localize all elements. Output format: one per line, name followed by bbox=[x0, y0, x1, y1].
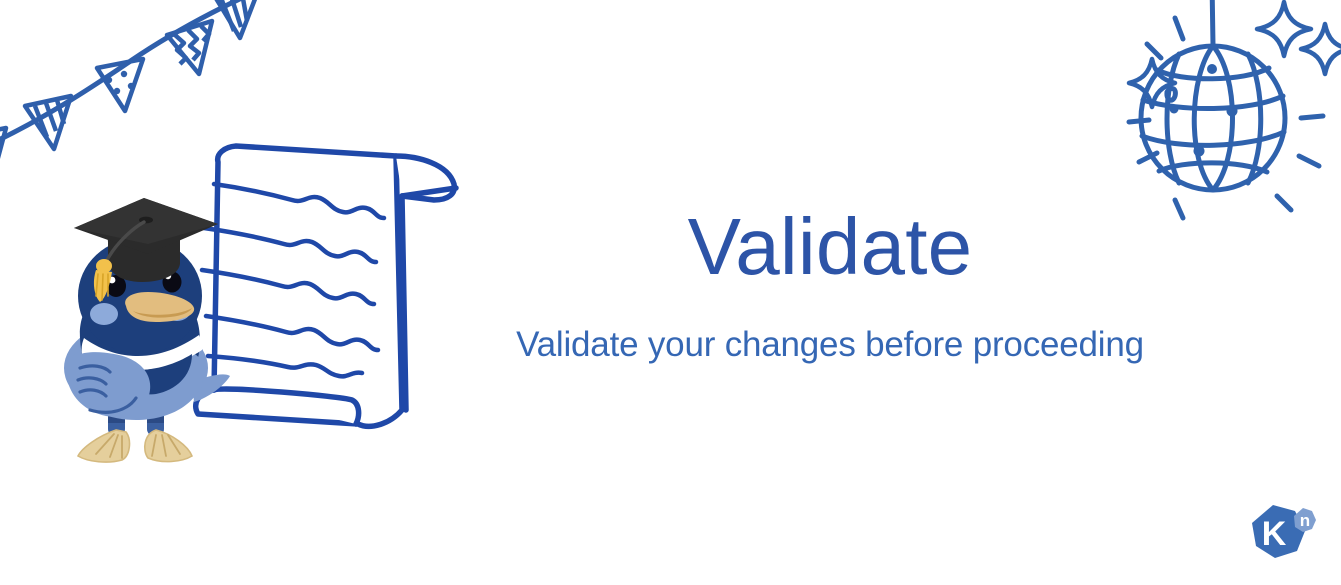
graduate-bird-mascot bbox=[52, 186, 234, 474]
logo-k-letter: K bbox=[1262, 515, 1287, 553]
logo-badge bbox=[1294, 508, 1316, 532]
disco-ball-icon bbox=[1109, 0, 1341, 228]
bunting-garland-icon bbox=[0, 0, 292, 184]
slide-text-block: Validate Validate your changes before pr… bbox=[465, 205, 1195, 365]
kn-logo: K n bbox=[1247, 503, 1319, 565]
page-title: Validate bbox=[465, 205, 1195, 289]
logo-heptagon bbox=[1252, 505, 1305, 558]
slide-canvas: Validate Validate your changes before pr… bbox=[0, 0, 1341, 585]
diploma-scroll-icon bbox=[180, 138, 462, 448]
page-subtitle: Validate your changes before proceeding bbox=[465, 325, 1195, 365]
logo-n-letter: n bbox=[1300, 511, 1310, 530]
